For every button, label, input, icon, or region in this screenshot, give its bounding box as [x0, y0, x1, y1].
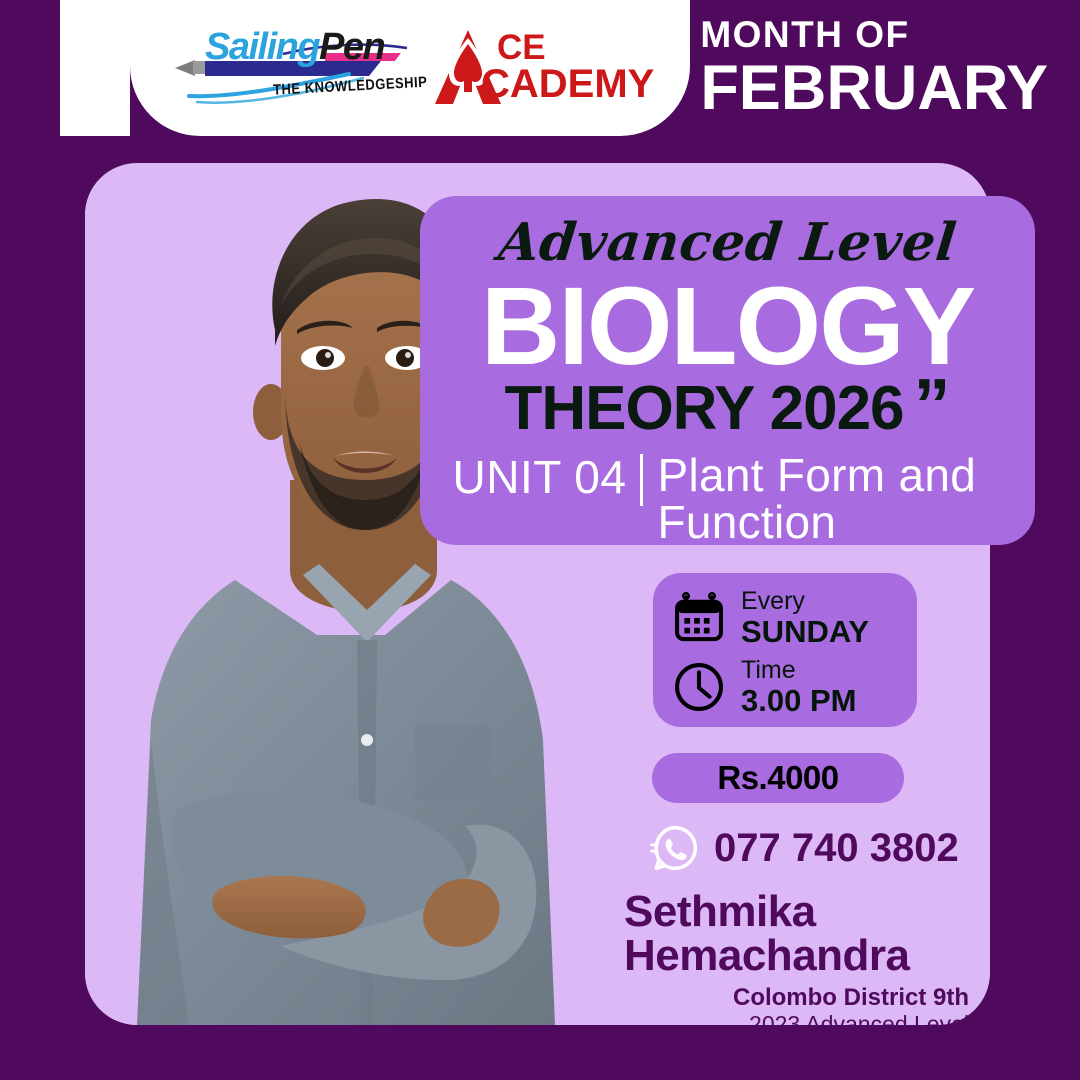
schedule-day-label: Every	[741, 589, 869, 614]
schedule-time-label: Time	[741, 658, 856, 683]
course-unit-topic: Plant Form and Function	[657, 452, 1002, 546]
clock-icon	[673, 661, 725, 713]
contact-phone-number[interactable]: 077 740 3802	[714, 826, 959, 871]
month-block: MONTH OF FEBRUARY	[700, 16, 1048, 120]
header-logos: SailingPen THE KNOWLEDGESHIP CE CADEMY	[130, 0, 690, 136]
instructor-credential-2: 2023 Advanced Level	[624, 1012, 969, 1038]
ace-academy-logo: CE CADEMY	[435, 28, 647, 108]
unit-divider	[640, 454, 643, 506]
whatsapp-icon[interactable]	[650, 823, 700, 873]
instructor-credential-1: Colombo District 9th	[624, 985, 969, 1012]
instructor-last-name: Hemachandra	[624, 934, 969, 978]
contact-row[interactable]: 077 740 3802	[650, 823, 959, 873]
sailing-pen-word-2: Pen	[319, 26, 384, 68]
calendar-icon	[673, 592, 725, 644]
course-level-script: Advanced Level	[417, 212, 1038, 273]
price-amount: Rs.4000	[717, 759, 838, 797]
ace-academy-line-2: CADEMY	[481, 64, 654, 104]
course-title-panel: Advanced Level BIOLOGY THEORY 2026 ” UNI…	[420, 196, 1035, 545]
instructor-block: Sethmika Hemachandra Colombo District 9t…	[624, 890, 969, 1065]
course-theory-row: THEORY 2026 ”	[420, 378, 1035, 440]
promo-poster: SailingPen THE KNOWLEDGESHIP CE CADEMY M…	[0, 0, 1080, 1080]
month-name: FEBRUARY	[700, 57, 1048, 120]
sailing-pen-logo: SailingPen THE KNOWLEDGESHIP	[173, 22, 409, 114]
instructor-credential-3: MBBS UG (Col)	[624, 1038, 969, 1065]
course-unit-label: UNIT 04	[453, 452, 627, 501]
schedule-box: Every SUNDAY Time 3.00 PM	[653, 573, 917, 727]
schedule-day-value: SUNDAY	[741, 616, 869, 647]
sailing-pen-wordmark: SailingPen	[205, 28, 384, 66]
instructor-credentials: Colombo District 9th 2023 Advanced Level…	[624, 985, 969, 1065]
schedule-time-row: Time 3.00 PM	[673, 658, 856, 716]
course-theory-year: THEORY 2026	[504, 378, 903, 440]
quote-mark-icon: ”	[914, 378, 951, 431]
month-label: MONTH OF	[700, 16, 1048, 55]
schedule-time-value: 3.00 PM	[741, 685, 856, 716]
sailing-pen-word-1: Sailing	[205, 26, 319, 68]
course-unit-row: UNIT 04 Plant Form and Function	[420, 452, 1035, 546]
price-badge: Rs.4000	[652, 753, 904, 803]
instructor-first-name: Sethmika	[624, 890, 969, 934]
schedule-day-row: Every SUNDAY	[673, 589, 869, 647]
ace-academy-line-1: CE	[497, 30, 546, 65]
